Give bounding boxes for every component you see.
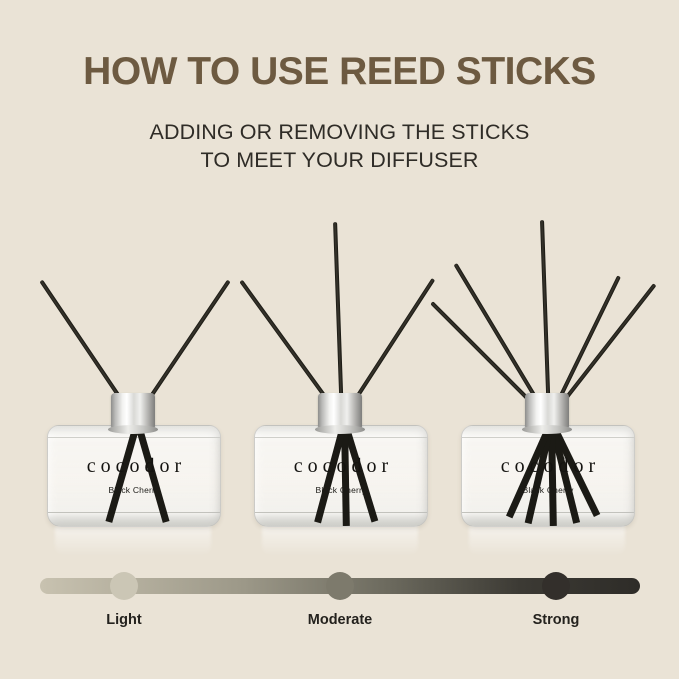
diffuser-bottle-strong: cocodor Black Cherry	[447, 393, 647, 553]
reed-sticks-group-strong	[447, 205, 647, 420]
diffuser-light: cocodor Black Cherry	[33, 205, 233, 560]
page-subtitle: ADDING OR REMOVING THE STICKS TO MEET YO…	[0, 119, 679, 175]
slider-label-light: Light	[106, 612, 141, 628]
bottle-reflection	[262, 526, 418, 556]
intensity-slider[interactable]: LightModerateStrong	[40, 578, 640, 634]
submerged-reeds-light	[48, 426, 220, 526]
intensity-slider-labels: LightModerateStrong	[40, 612, 640, 634]
reed-sticks-group-moderate	[240, 205, 440, 420]
bottle-body: cocodor Black Cherry	[254, 425, 428, 527]
diffuser-bottle-moderate: cocodor Black Cherry	[240, 393, 440, 553]
subtitle-line-1: ADDING OR REMOVING THE STICKS	[0, 119, 679, 147]
bottle-reflection	[469, 526, 625, 556]
bottle-reflection	[55, 526, 211, 556]
diffuser-strong: cocodor Black Cherry	[447, 205, 647, 560]
submerged-reeds-strong	[462, 426, 634, 526]
submerged-reed	[134, 425, 169, 523]
intensity-slider-track[interactable]	[40, 578, 640, 594]
bottle-cap-icon	[525, 393, 569, 429]
submerged-reeds-moderate	[255, 426, 427, 526]
submerged-reed	[105, 425, 140, 523]
bottle-body: cocodor Black Cherry	[461, 425, 635, 527]
slider-knob-strong[interactable]	[542, 572, 570, 600]
slider-label-moderate: Moderate	[308, 612, 372, 628]
page-title: HOW TO USE REED STICKS	[0, 52, 679, 93]
slider-knob-moderate[interactable]	[326, 572, 354, 600]
diffuser-bottle-light: cocodor Black Cherry	[33, 393, 233, 553]
subtitle-line-2: TO MEET YOUR DIFFUSER	[0, 147, 679, 175]
slider-knob-light[interactable]	[110, 572, 138, 600]
reed-stick	[333, 222, 344, 420]
slider-label-strong: Strong	[533, 612, 580, 628]
bottle-cap-icon	[318, 393, 362, 429]
reed-stick	[540, 220, 551, 420]
bottle-cap-icon	[111, 393, 155, 429]
infographic-header: HOW TO USE REED STICKS ADDING OR REMOVIN…	[0, 0, 679, 175]
diffuser-stage: cocodor Black Cherry cocodor Black Cherr…	[0, 205, 679, 560]
reed-sticks-group-light	[33, 205, 233, 420]
diffuser-moderate: cocodor Black Cherry	[240, 205, 440, 560]
bottle-body: cocodor Black Cherry	[47, 425, 221, 527]
